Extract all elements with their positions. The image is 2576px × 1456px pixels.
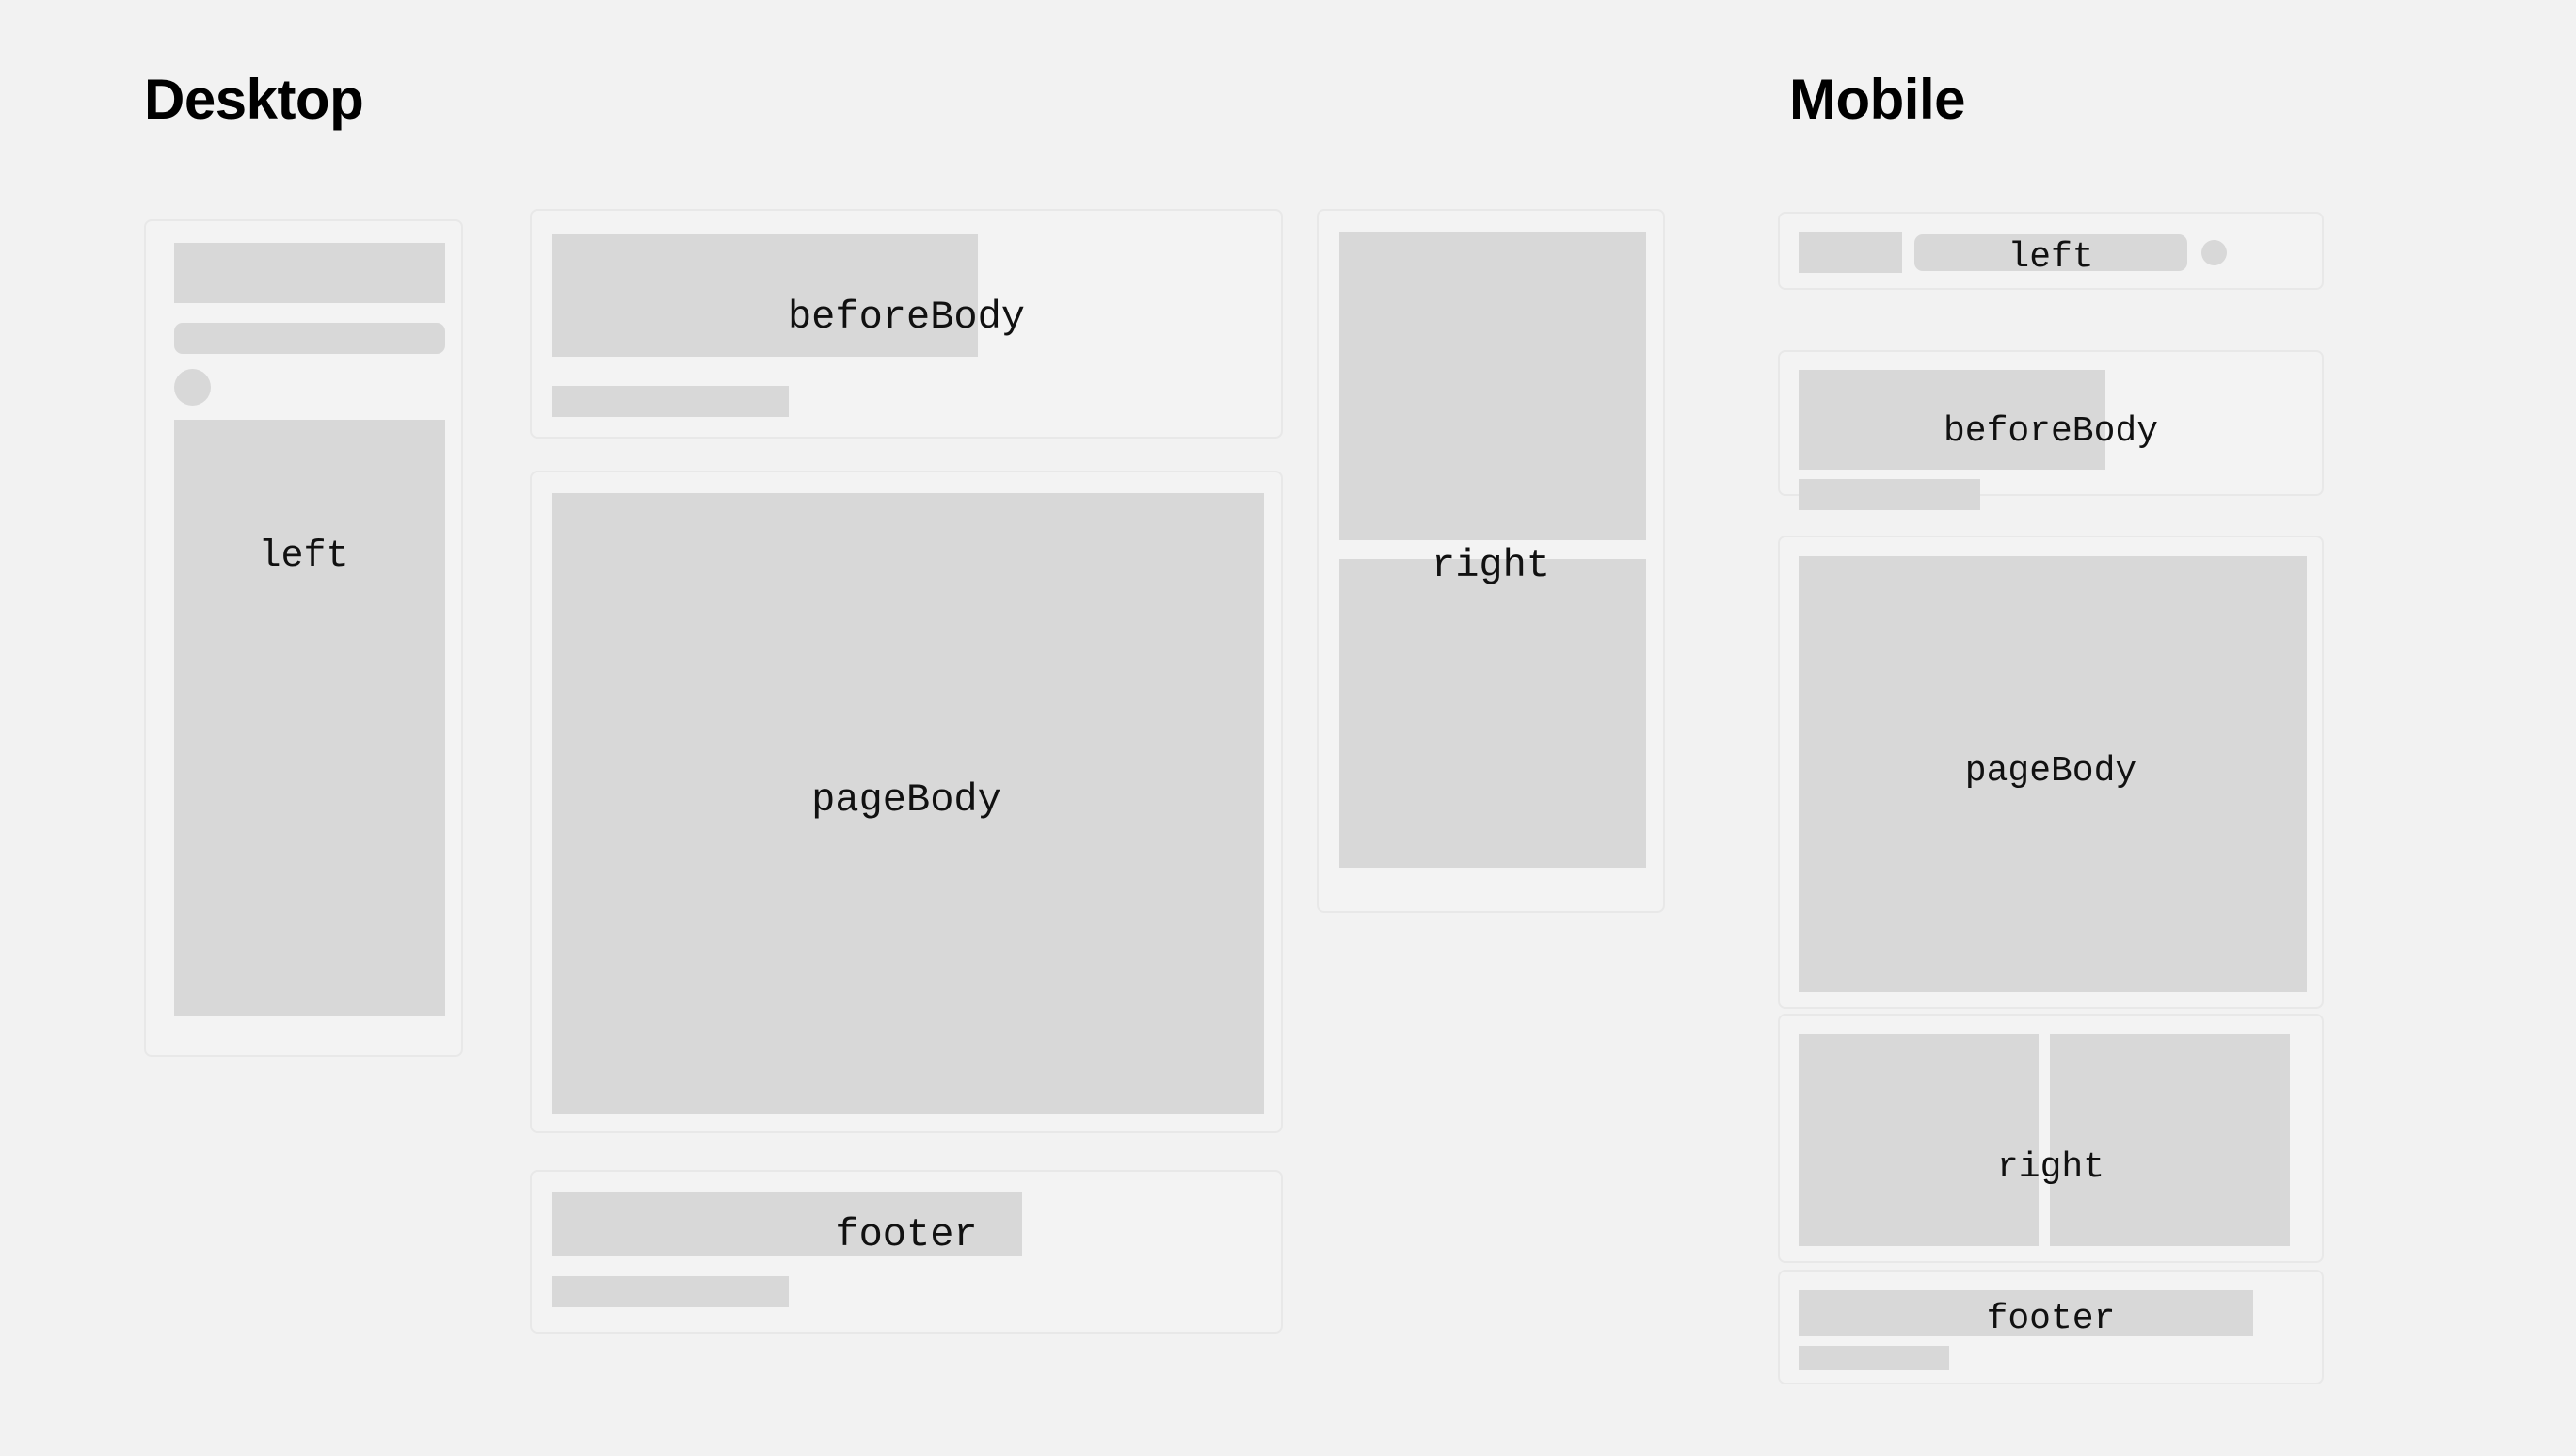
mobile-page-body-panel[interactable] xyxy=(1778,536,2324,1009)
placeholder-block-large xyxy=(552,493,1264,1114)
desktop-before-body-panel[interactable] xyxy=(530,209,1283,439)
mobile-left-panel[interactable] xyxy=(1778,212,2324,290)
placeholder-block xyxy=(1799,1290,2253,1336)
placeholder-block xyxy=(174,243,445,303)
placeholder-block xyxy=(552,234,978,357)
placeholder-block-small xyxy=(1799,1346,1949,1370)
mobile-section-heading: Mobile xyxy=(1789,72,1965,128)
placeholder-block-left xyxy=(1799,1034,2039,1246)
desktop-section-heading: Desktop xyxy=(144,72,363,128)
placeholder-block-small xyxy=(552,386,789,417)
placeholder-block xyxy=(1799,370,2105,470)
placeholder-block-rounded xyxy=(174,323,445,354)
mobile-before-body-panel[interactable] xyxy=(1778,350,2324,496)
placeholder-circle xyxy=(2201,240,2227,265)
placeholder-block-top xyxy=(1339,232,1646,540)
placeholder-block-tall xyxy=(174,420,445,1016)
desktop-right-panel[interactable] xyxy=(1317,209,1665,913)
desktop-footer-panel[interactable] xyxy=(530,1170,1283,1334)
placeholder-block xyxy=(1799,232,1902,273)
wireframe-canvas: Desktop left beforeBody pageBody footer … xyxy=(0,0,2576,1456)
placeholder-block-small xyxy=(1799,479,1980,510)
desktop-left-panel[interactable] xyxy=(144,219,463,1057)
placeholder-circle xyxy=(174,369,211,406)
placeholder-block-bottom xyxy=(1339,559,1646,868)
mobile-right-panel[interactable] xyxy=(1778,1014,2324,1263)
placeholder-block-right xyxy=(2050,1034,2290,1246)
placeholder-block-rounded xyxy=(1914,234,2187,271)
placeholder-block-small xyxy=(552,1276,789,1307)
desktop-page-body-panel[interactable] xyxy=(530,471,1283,1133)
placeholder-block xyxy=(552,1192,1022,1256)
placeholder-block-large xyxy=(1799,556,2307,992)
mobile-footer-panel[interactable] xyxy=(1778,1270,2324,1384)
